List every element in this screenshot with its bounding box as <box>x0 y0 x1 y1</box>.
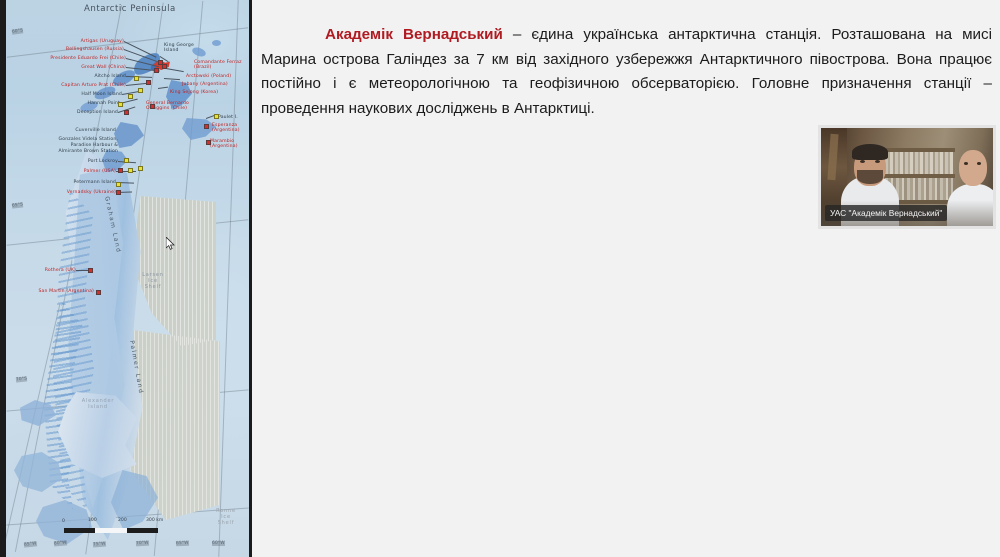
station-label-capitan-arturo-prat: Capitan Arturo Prat (Chile) <box>20 83 126 88</box>
station-label-arctowski: Arctowski (Poland) <box>186 74 231 79</box>
slide-paragraph: Академік Вернадський – єдина українська … <box>261 23 992 121</box>
station-label-bellingshausen: Bellingshausen (Russia) <box>28 47 124 52</box>
video-caption: УАС "Академік Вернадський" <box>825 205 947 221</box>
scale-tick: 200 <box>118 518 127 523</box>
paragraph-lead: Академік Вернадський <box>325 26 503 43</box>
longitude-tick: 70°W <box>136 541 149 547</box>
station-label-cuverville-island: Cuverville Island <box>30 128 116 133</box>
map-scale-bar <box>64 528 158 533</box>
longitude-tick: 75°W <box>93 542 106 548</box>
scale-tick: 0 <box>62 519 65 524</box>
station-marker[interactable] <box>138 88 143 93</box>
station-marker[interactable] <box>118 102 123 107</box>
books <box>885 152 953 174</box>
person-eye <box>860 160 865 163</box>
person-eye <box>875 160 880 163</box>
station-marker[interactable] <box>204 124 209 129</box>
station-marker-vernadsky[interactable] <box>116 190 121 195</box>
station-label-comandante-ferraz: Comandante Ferraz (Brazil) <box>194 60 249 71</box>
station-label-artigas: Artigas (Uruguay) <box>44 39 124 44</box>
person-eye <box>964 162 968 165</box>
station-marker[interactable] <box>154 68 159 73</box>
video-call-overlay[interactable]: УАС "Академік Вернадський" <box>818 125 996 229</box>
station-label-aitcho-island: Aitcho Island <box>36 74 126 79</box>
station-label-vernadsky: Vernadsky (Ukraine) <box>28 190 116 195</box>
scale-tick: 100 <box>88 518 97 523</box>
station-marker[interactable] <box>88 268 93 273</box>
longitude-tick: 65°W <box>176 541 189 547</box>
station-marker[interactable] <box>124 158 129 163</box>
antarctic-peninsula-map[interactable]: Antarctic Peninsula 60°S 65°S 70°S 85°W … <box>6 0 249 557</box>
region-label-ronne-ice-shelf: Ronne Ice Shelf <box>210 508 242 526</box>
station-label-marambio: Marambio (Argentina) <box>210 139 249 150</box>
station-marker[interactable] <box>214 114 219 119</box>
presentation-slide: Antarctic Peninsula 60°S 65°S 70°S 85°W … <box>0 0 1000 557</box>
latitude-tick: 70°S <box>16 376 28 383</box>
station-marker[interactable] <box>162 64 167 69</box>
station-label-palmer: Palmer (USA) <box>44 169 116 174</box>
station-marker[interactable] <box>150 104 155 109</box>
station-label-hannah-point: Hannah Point <box>42 101 120 106</box>
station-label-paulet-island: Paulet I. <box>218 115 238 120</box>
person-beard <box>857 170 883 184</box>
station-label-king-george-island: King George Island <box>164 43 198 54</box>
station-label-paradise-harbour: Paradise Harbour & <box>20 143 118 148</box>
station-marker[interactable] <box>206 140 211 145</box>
slide-content-area: Академік Вернадський – єдина українська … <box>252 0 1000 557</box>
station-marker[interactable] <box>138 166 143 171</box>
person-eye <box>977 162 981 165</box>
station-marker[interactable] <box>118 168 123 173</box>
person-hair <box>852 144 888 160</box>
station-label-king-sejong: King Sejong (Korea) <box>170 90 218 95</box>
station-label-great-wall: Great Wall (China) <box>32 65 126 70</box>
station-marker[interactable] <box>116 182 121 187</box>
region-label-larsen-ice-shelf: Larsen Ice Shelf <box>136 272 170 290</box>
station-label-gonzales-videla: Gonzales Videla Station, <box>20 137 118 142</box>
island <box>212 40 221 46</box>
scale-tick: 300 km <box>146 518 163 523</box>
station-label-presidente-eduardo-frei: Presidente Eduardo Frei (Chile) <box>8 56 126 61</box>
station-label-jubany: Jubany (Argentina) <box>182 82 228 87</box>
person-face <box>959 150 987 186</box>
station-marker[interactable] <box>146 80 151 85</box>
map-panel: Antarctic Peninsula 60°S 65°S 70°S 85°W … <box>0 0 252 557</box>
station-marker[interactable] <box>134 76 139 81</box>
station-label-san-martin: San Martin (Argentina) <box>12 289 94 294</box>
station-label-port-lockroy: Port Lockroy <box>46 159 118 164</box>
mouse-cursor <box>166 237 175 250</box>
station-label-deception-island: Deception Island <box>30 110 118 115</box>
longitude-tick: 60°W <box>212 541 225 546</box>
station-marker[interactable] <box>128 168 133 173</box>
station-marker[interactable] <box>128 94 133 99</box>
station-label-almirante-brown: Almirante Brown Station <box>16 149 118 154</box>
map-title: Antarctic Peninsula <box>84 4 176 14</box>
station-label-esperanza: Esperanza (Argentina) <box>212 123 249 134</box>
video-feed: УАС "Академік Вернадський" <box>821 128 993 226</box>
longitude-tick: 80°W <box>54 540 67 546</box>
station-marker[interactable] <box>124 110 129 115</box>
station-label-rothera: Rothera (UK) <box>14 268 76 273</box>
region-label-alexander-island: Alexander Island <box>78 398 118 410</box>
station-marker[interactable] <box>96 290 101 295</box>
station-label-petermann-island: Petermann Island <box>34 180 116 185</box>
station-label-half-moon-island: Half Moon Island <box>34 92 122 97</box>
leader-line <box>76 270 88 271</box>
